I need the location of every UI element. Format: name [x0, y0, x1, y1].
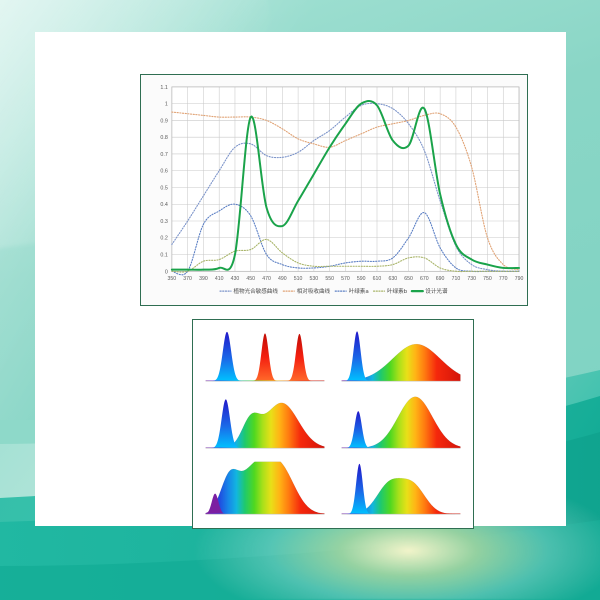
spectrum-thumb-full-continuous-spectrum [199, 459, 331, 522]
svg-text:470: 470 [262, 276, 271, 282]
svg-text:1.1: 1.1 [160, 85, 167, 91]
svg-text:670: 670 [420, 276, 429, 282]
svg-text:0.9: 0.9 [160, 118, 167, 124]
svg-text:710: 710 [452, 276, 461, 282]
slide-canvas: 00.10.20.30.40.50.60.70.80.911.135037039… [0, 0, 600, 600]
spectrum-thumb-blue-spike-flat-broad [335, 459, 467, 522]
spectra-grid [199, 326, 467, 522]
spectrum-thumb-three-narrow-peaks [199, 326, 331, 389]
svg-text:0.2: 0.2 [160, 236, 167, 242]
legend-label-叶绿素b: 叶绿素b [387, 287, 408, 295]
svg-text:650: 650 [404, 276, 413, 282]
svg-text:0.4: 0.4 [160, 202, 167, 208]
spectrum-line-chart: 00.10.20.30.40.50.60.70.80.911.135037039… [141, 75, 527, 305]
svg-text:0.3: 0.3 [160, 219, 167, 225]
svg-text:630: 630 [388, 276, 397, 282]
spectrum-peak-blue [342, 411, 380, 448]
content-card: 00.10.20.30.40.50.60.70.80.911.135037039… [35, 32, 566, 526]
spectrum-peak-blue [206, 332, 252, 381]
legend-label-植物光合敏感曲线: 植物光合敏感曲线 [233, 287, 278, 295]
svg-text:390: 390 [199, 276, 208, 282]
svg-text:1: 1 [165, 102, 168, 108]
svg-text:550: 550 [325, 276, 334, 282]
svg-text:530: 530 [310, 276, 319, 282]
svg-text:0: 0 [165, 269, 168, 275]
svg-text:350: 350 [168, 276, 177, 282]
svg-text:510: 510 [294, 276, 303, 282]
spectrum-line-chart-panel: 00.10.20.30.40.50.60.70.80.911.135037039… [140, 74, 528, 306]
svg-text:730: 730 [467, 276, 476, 282]
svg-text:0.8: 0.8 [160, 135, 167, 141]
svg-text:0.1: 0.1 [160, 253, 167, 259]
spectrum-broad-curve [206, 462, 325, 514]
svg-text:430: 430 [231, 276, 240, 282]
spectrum-peak-blue [342, 331, 379, 381]
svg-text:690: 690 [436, 276, 445, 282]
legend-label-设计光谱: 设计光谱 [425, 287, 448, 295]
spectrum-thumb-blue-peak-broad-red [335, 326, 467, 389]
svg-text:0.6: 0.6 [160, 169, 167, 175]
legend-label-相对吸收曲线: 相对吸收曲线 [297, 287, 331, 295]
svg-text:0.7: 0.7 [160, 152, 167, 158]
svg-text:450: 450 [246, 276, 255, 282]
spectrum-peak-red [278, 334, 320, 381]
spectrum-peak-red [244, 333, 286, 381]
svg-text:490: 490 [278, 276, 287, 282]
spectrum-thumb-blue-peak-large-red [335, 393, 467, 456]
spectrum-thumb-blue-green-red-triple [199, 393, 331, 456]
legend-label-叶绿素a: 叶绿素a [349, 287, 369, 295]
svg-text:570: 570 [341, 276, 350, 282]
svg-text:590: 590 [357, 276, 366, 282]
svg-text:0.5: 0.5 [160, 185, 167, 191]
svg-text:370: 370 [183, 276, 192, 282]
svg-text:750: 750 [483, 276, 492, 282]
svg-text:610: 610 [373, 276, 382, 282]
svg-text:410: 410 [215, 276, 224, 282]
svg-text:790: 790 [515, 276, 524, 282]
svg-text:770: 770 [499, 276, 508, 282]
spectra-thumbnail-panel [192, 319, 474, 529]
